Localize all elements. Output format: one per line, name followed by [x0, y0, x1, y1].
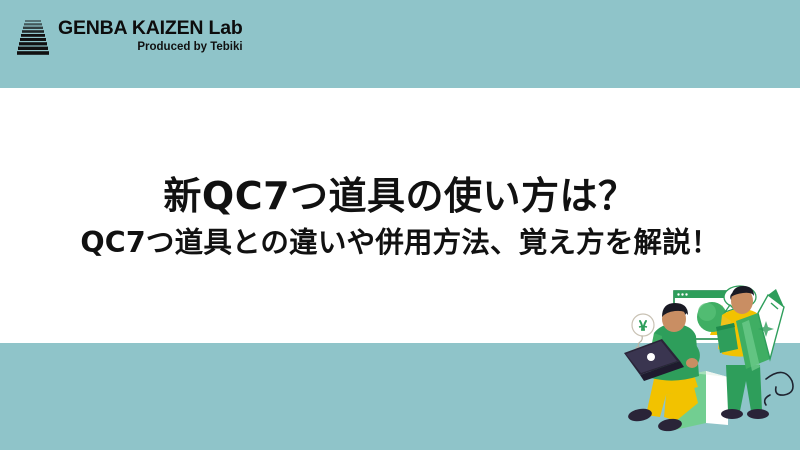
headline-block: 新QC7つ道具の使い方は？ QC7つ道具との違いや併用方法、覚え方を解説！: [0, 175, 800, 259]
two-people-working-illustration: [618, 283, 800, 435]
headline-main-title: 新QC7つ道具の使い方は？: [0, 175, 800, 218]
brand-subtitle: Produced by Tebiki: [137, 41, 242, 54]
slide-canvas: GENBA KAIZEN Lab Produced by Tebiki 新QC7…: [0, 0, 800, 450]
headline-subtitle: QC7つ道具との違いや併用方法、覚え方を解説！: [0, 227, 800, 260]
brand-text-block: GENBA KAIZEN Lab Produced by Tebiki: [58, 18, 243, 54]
stacked-pyramid-logo-icon: [16, 19, 50, 57]
brand-title: GENBA KAIZEN Lab: [58, 18, 243, 38]
brand-lockup: GENBA KAIZEN Lab Produced by Tebiki: [16, 18, 243, 57]
decorative-swirl: [765, 372, 793, 405]
